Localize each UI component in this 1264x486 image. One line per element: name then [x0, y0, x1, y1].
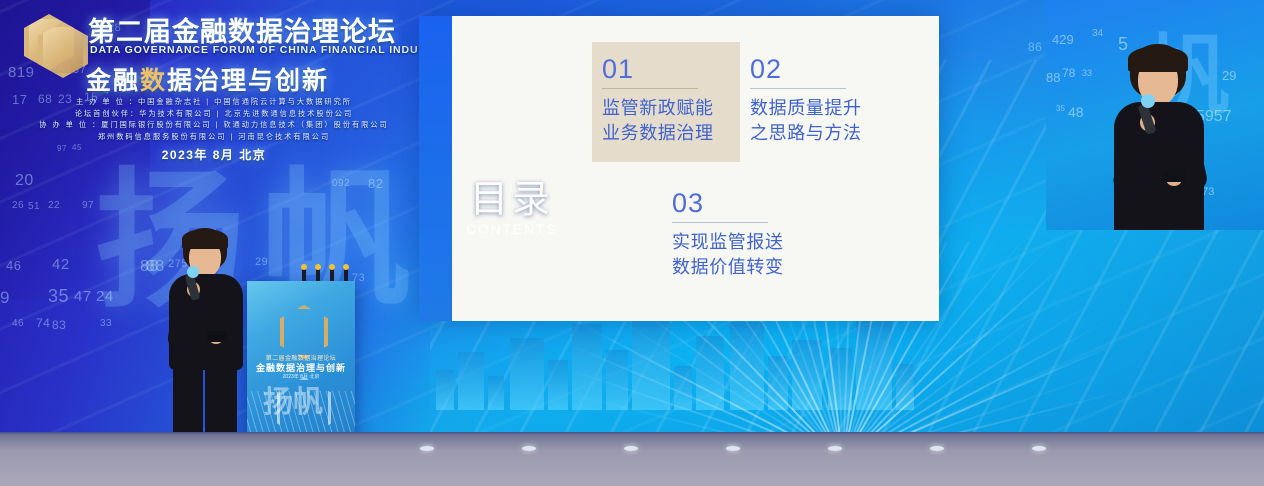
slide-section-label: 目录 CONTENTS — [452, 178, 572, 237]
contents-item-01: 01 监管新政赋能 业务数据治理 — [592, 42, 740, 162]
floor-light — [726, 446, 740, 451]
stage-floor — [0, 432, 1264, 486]
contents-item-number: 02 — [750, 54, 902, 84]
banner-organizer-lines: 主 办 单 位 ：中国金融杂志社 | 中国信通院云计算与大数据研究所论坛首创伙伴… — [18, 96, 410, 142]
banner-organizer-line: 协 办 单 位 ：厦门国际银行股份有限公司 | 软通动力信息技术（集团）股份有限… — [18, 119, 410, 131]
contents-item-03: 03 实现监管报送 数据价值转变 — [666, 188, 824, 280]
banner-organizer-line: 论坛首创伙伴：华为技术有限公司 | 北京先进数通信息技术股份公司 — [18, 108, 410, 120]
contents-item-number: 03 — [672, 188, 824, 218]
contents-item-line2: 数据价值转变 — [672, 255, 824, 280]
banner-date-line: 2023年 8月 北京 — [18, 146, 410, 163]
conference-stage-screenshot: 扬帆 8196437281768231549745202651229746428… — [0, 0, 1264, 486]
video-panel-number: 35 — [1056, 104, 1065, 113]
banner-organizer-line: 主 办 单 位 ：中国金融杂志社 | 中国信通院云计算与大数据研究所 — [18, 96, 410, 108]
contents-item-number: 01 — [602, 54, 734, 84]
slide-contents-list: 01 监管新政赋能 业务数据治理 02 数据质量提升 之思路与方法 03 实现监… — [592, 30, 937, 315]
speaker-video-panel: 帆 429345887833412935485957973 — [1046, 0, 1264, 230]
video-panel-number: 33 — [1082, 68, 1092, 78]
video-panel-number: 88 — [1046, 70, 1060, 85]
forum-banner: 第二届金融数据治理论坛 DATA GOVERNANCE FORUM OF CHI… — [18, 6, 410, 168]
floor-edge-line — [0, 432, 1264, 435]
video-panel-number: 34 — [1092, 28, 1103, 39]
presenter-on-stage — [155, 228, 260, 460]
contents-item-line1: 监管新政赋能 — [602, 96, 734, 121]
floor-light — [1032, 446, 1046, 451]
slide-section-label-cn: 目录 — [452, 178, 572, 220]
video-panel-number: 48 — [1068, 104, 1084, 120]
video-panel-number: 29 — [1222, 68, 1236, 83]
banner-subtitle-suffix: 据治理与创新 — [167, 67, 329, 95]
presenter-video-feed — [1104, 44, 1214, 230]
hexagon-forum-logo-icon — [24, 12, 80, 70]
floor-light — [828, 446, 842, 451]
contents-item-rule — [672, 222, 768, 223]
contents-item-line2: 之思路与方法 — [750, 121, 902, 146]
floor-light — [930, 446, 944, 451]
video-panel-number: 429 — [1052, 32, 1074, 47]
floor-light — [624, 446, 638, 451]
floor-light — [420, 446, 434, 451]
slide-accent-bar — [419, 16, 452, 321]
contents-item-rule — [602, 88, 698, 89]
banner-subtitle: 金融数据治理与创新 — [86, 61, 329, 97]
banner-subtitle-accent: 数 — [140, 67, 167, 95]
floor-light — [522, 446, 536, 451]
contents-item-02: 02 数据质量提升 之思路与方法 — [744, 54, 902, 146]
podium-hexagon-logo-icon — [280, 305, 328, 359]
contents-item-line2: 业务数据治理 — [602, 121, 734, 146]
video-panel-number: 78 — [1062, 66, 1075, 80]
slide-section-label-en: CONTENTS — [452, 222, 572, 237]
contents-item-rule — [750, 88, 846, 89]
banner-subtitle-prefix: 金融 — [86, 67, 140, 95]
banner-title-en: DATA GOVERNANCE FORUM OF CHINA FINANCIAL… — [90, 44, 450, 56]
contents-item-line1: 实现监管报送 — [672, 230, 824, 255]
contents-item-line1: 数据质量提升 — [750, 96, 902, 121]
banner-organizer-line: 郑州数码信息服务股份有限公司 | 河南昆仑技术有限公司 — [18, 131, 410, 143]
